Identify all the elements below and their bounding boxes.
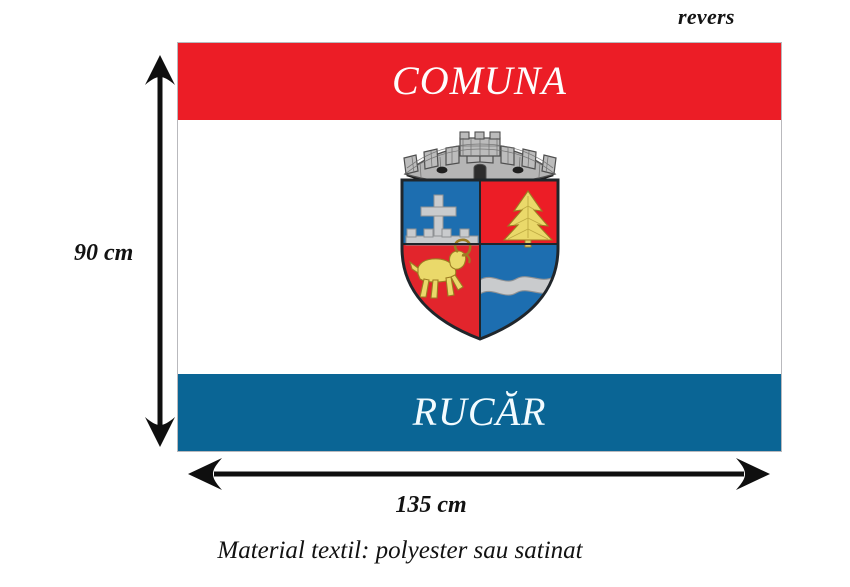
revers-annotation-label: revers: [678, 4, 735, 30]
material-caption: Material textil: polyester sau satinat: [217, 537, 582, 564]
width-dimension-label-wrap: 135 cm: [0, 492, 850, 519]
material-caption-wrap: Material textil: polyester sau satinat: [0, 537, 850, 565]
height-dimension-line: [138, 55, 182, 447]
flag-top-band-text: COMUNA: [392, 61, 567, 101]
flag-bottom-band-blue: RUCĂR: [178, 374, 781, 451]
quarter-bottom-right-field: [480, 244, 580, 344]
width-dimension-label: 135 cm: [395, 492, 466, 518]
flag-bottom-band-text: RUCĂR: [413, 392, 547, 432]
flag-top-band-red: COMUNA: [178, 43, 781, 120]
width-dimension-line: [188, 456, 770, 492]
coat-of-arms: [380, 122, 580, 344]
flag-graphic: COMUNA RUCĂR: [177, 42, 782, 452]
height-dimension-label: 90 cm: [74, 240, 133, 267]
